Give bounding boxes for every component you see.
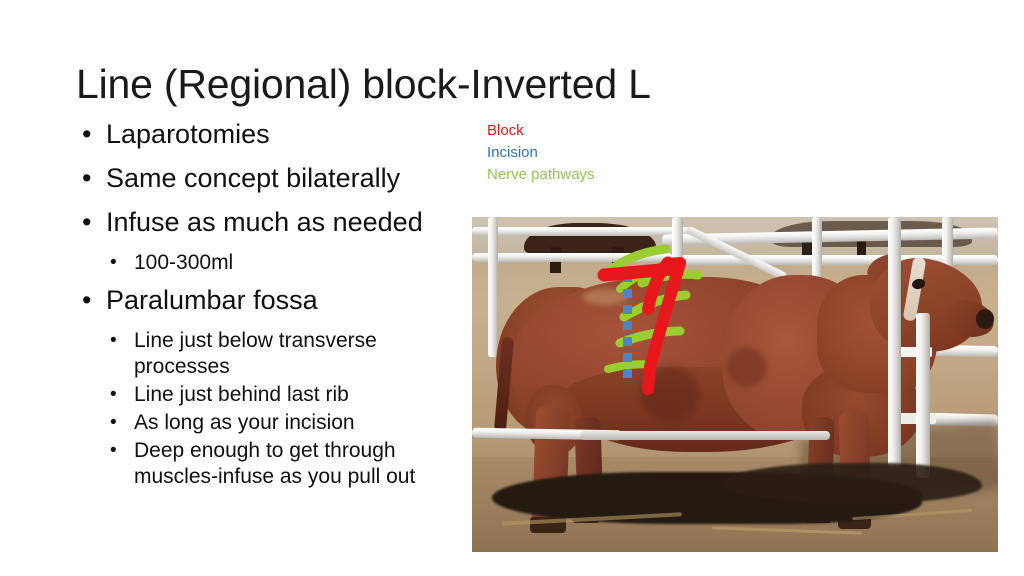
- list-item-label: Same concept bilaterally: [106, 163, 400, 193]
- list-item: • Same concept bilaterally: [78, 162, 478, 195]
- bullet-glyph: •: [82, 206, 91, 239]
- bullet-glyph: •: [110, 410, 117, 436]
- bullet-glyph: •: [110, 250, 117, 276]
- bullet-glyph: •: [82, 118, 91, 151]
- list-item: • As long as your incision: [78, 410, 478, 436]
- sub-list: • 100-300ml: [78, 250, 478, 276]
- list-item: • 100-300ml: [78, 250, 478, 276]
- annotation-legend: Block Incision Nerve pathways: [487, 120, 595, 186]
- list-item-label: Line just below transverse processes: [134, 328, 478, 380]
- slide-canvas: Line (Regional) block-Inverted L • Lapar…: [0, 0, 1024, 576]
- list-item-label: Laparotomies: [106, 119, 270, 149]
- legend-item-block: Block: [487, 120, 595, 142]
- list-item-label: 100-300ml: [134, 250, 478, 276]
- list-item-label: Infuse as much as needed: [106, 207, 423, 237]
- cow-photograph: [472, 217, 998, 552]
- inverted-l-block-annotation: [472, 217, 998, 552]
- list-item: • Line just behind last rib: [78, 382, 478, 408]
- list-item: • Paralumbar fossa: [78, 284, 478, 317]
- list-item-label: Paralumbar fossa: [106, 285, 318, 315]
- list-item: • Laparotomies: [78, 118, 478, 151]
- bullet-glyph: •: [110, 382, 117, 408]
- page-title: Line (Regional) block-Inverted L: [76, 60, 956, 108]
- list-item: • Deep enough to get through muscles-inf…: [78, 438, 478, 490]
- legend-item-nerve: Nerve pathways: [487, 164, 595, 186]
- legend-item-incision: Incision: [487, 142, 595, 164]
- bullet-list: • Laparotomies • Same concept bilaterall…: [78, 118, 478, 498]
- list-item-label: As long as your incision: [134, 410, 478, 436]
- bullet-glyph: •: [110, 438, 117, 464]
- list-item: • Infuse as much as needed: [78, 206, 478, 239]
- bullet-glyph: •: [110, 328, 117, 354]
- list-item-label: Deep enough to get through muscles-infus…: [134, 438, 478, 490]
- bullet-glyph: •: [82, 162, 91, 195]
- bullet-glyph: •: [82, 284, 91, 317]
- list-item-label: Line just behind last rib: [134, 382, 478, 408]
- sub-list: • Line just below transverse processes •…: [78, 328, 478, 490]
- list-item: • Line just below transverse processes: [78, 328, 478, 380]
